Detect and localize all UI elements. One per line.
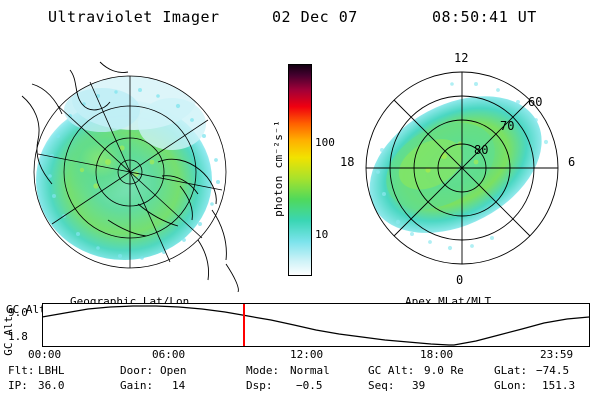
colorbar-tick-10: 10	[315, 228, 328, 241]
mode-value: Normal	[290, 364, 330, 377]
seq-label: Seq:	[368, 379, 395, 392]
page-title: Ultraviolet Imager	[48, 8, 220, 26]
ip-label: IP:	[8, 379, 28, 392]
flt-label: Flt:	[8, 364, 35, 377]
mlt-label-0: 0	[456, 273, 463, 287]
colorbar-axis-label: photon cm⁻²s⁻¹	[272, 120, 288, 217]
status-footer: Flt: LBHL Door: Open Mode: Normal GC Alt…	[0, 364, 600, 394]
glon-label: GLon:	[494, 379, 527, 392]
gain-value: 14	[172, 379, 185, 392]
time-tick-1200: 12:00	[290, 348, 323, 361]
colorbar	[288, 64, 312, 276]
ip-value: 36.0	[38, 379, 65, 392]
time-tick-0000: 00:00	[28, 348, 61, 361]
mlt-label-18: 18	[340, 155, 354, 169]
footer-row-2: IP: 36.0 Gain: 14 Dsp: −0.5 Seq: 39 GLon…	[0, 379, 600, 394]
door-value: Open	[160, 364, 187, 377]
apex-polar-panel: 12 18 6 0 60 70 80	[340, 44, 588, 292]
gc-alt-strip-chart	[42, 303, 590, 347]
mlt-label-6: 6	[568, 155, 575, 169]
geographic-polar-image	[12, 44, 260, 292]
uvi-summary-plot: Ultraviolet Imager 02 Dec 07 08:50:41 UT	[0, 0, 600, 400]
gc-alt-label-f: GC Alt:	[368, 364, 414, 377]
observation-time: 08:50:41 UT	[432, 8, 537, 26]
mlat-label-60: 60	[528, 95, 542, 109]
apex-polar-image: 12 18 6 0 60 70 80	[340, 44, 588, 292]
mlat-label-70: 70	[500, 119, 514, 133]
geographic-polar-panel	[12, 44, 260, 292]
observation-date: 02 Dec 07	[272, 8, 358, 26]
door-label: Door:	[120, 364, 153, 377]
seq-value: 39	[412, 379, 425, 392]
mlt-label-12: 12	[454, 51, 468, 65]
glat-label: GLat:	[494, 364, 527, 377]
gc-alt-value: 9.0 Re	[424, 364, 464, 377]
flt-value: LBHL	[38, 364, 65, 377]
dsp-value: −0.5	[296, 379, 323, 392]
mlat-label-80: 80	[474, 143, 488, 157]
time-tick-1800: 18:00	[420, 348, 453, 361]
time-tick-0600: 06:00	[152, 348, 185, 361]
dsp-label: Dsp:	[246, 379, 273, 392]
glon-value: 151.3	[542, 379, 575, 392]
gc-alt-axis-title: GC Alt	[2, 316, 15, 356]
time-tick-2359: 23:59	[540, 348, 573, 361]
colorbar-tick-100: 100	[315, 136, 335, 149]
glat-value: −74.5	[536, 364, 569, 377]
mode-label: Mode:	[246, 364, 279, 377]
footer-row-1: Flt: LBHL Door: Open Mode: Normal GC Alt…	[0, 364, 600, 379]
gain-label: Gain:	[120, 379, 153, 392]
